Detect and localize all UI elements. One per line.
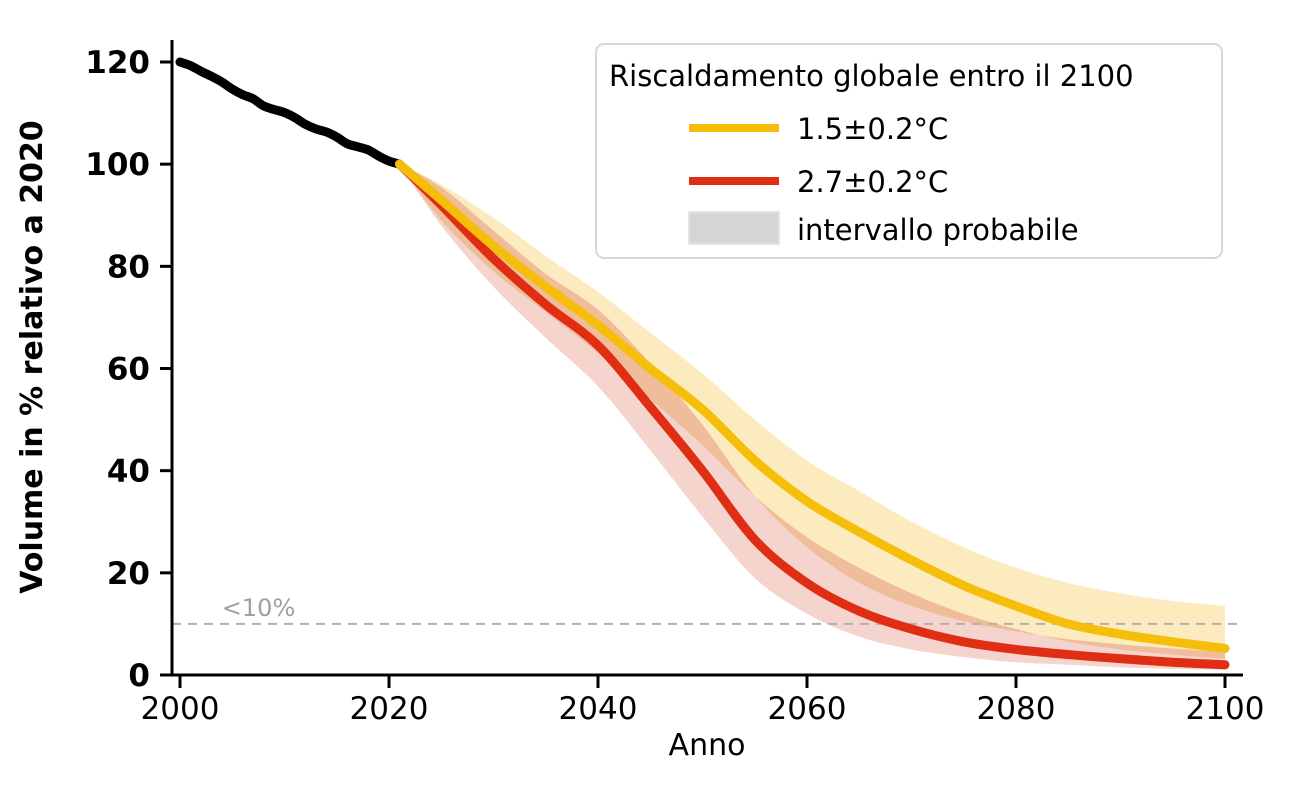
legend-label-2p7c: 2.7±0.2°C: [797, 165, 948, 199]
x-tick-label: 2080: [977, 691, 1056, 727]
x-tick-label: 2060: [768, 691, 847, 727]
glacier-volume-projection-chart: <10% 020406080100120 2000202020402060208…: [0, 0, 1300, 800]
legend-label-likely-range: intervallo probabile: [797, 213, 1079, 247]
y-tick-label: 100: [85, 147, 150, 183]
x-tick-label: 2020: [350, 691, 429, 727]
y-tick-label: 60: [107, 352, 150, 388]
x-axis-ticks: 200020202040206020802100: [141, 675, 1265, 727]
legend-title: Riscaldamento globale entro il 2100: [609, 59, 1134, 93]
y-axis-title: Volume in % relativo a 2020: [15, 120, 50, 594]
y-tick-label: 80: [107, 249, 150, 285]
threshold-label: <10%: [222, 594, 295, 622]
x-tick-label: 2040: [559, 691, 638, 727]
legend-swatch-likely-range: [689, 212, 779, 244]
y-tick-label: 40: [107, 454, 150, 490]
y-tick-label: 120: [85, 45, 150, 81]
legend-label-1p5c: 1.5±0.2°C: [797, 112, 948, 146]
y-axis-ticks: 020406080100120: [85, 45, 172, 694]
legend: Riscaldamento globale entro il 2100 1.5±…: [596, 44, 1222, 258]
x-axis-title: Anno: [669, 728, 746, 763]
y-tick-label: 20: [107, 556, 150, 592]
y-tick-label: 0: [128, 658, 150, 694]
chart-container: <10% 020406080100120 2000202020402060208…: [0, 0, 1300, 800]
x-tick-label: 2000: [141, 691, 220, 727]
x-tick-label: 2100: [1186, 691, 1265, 727]
